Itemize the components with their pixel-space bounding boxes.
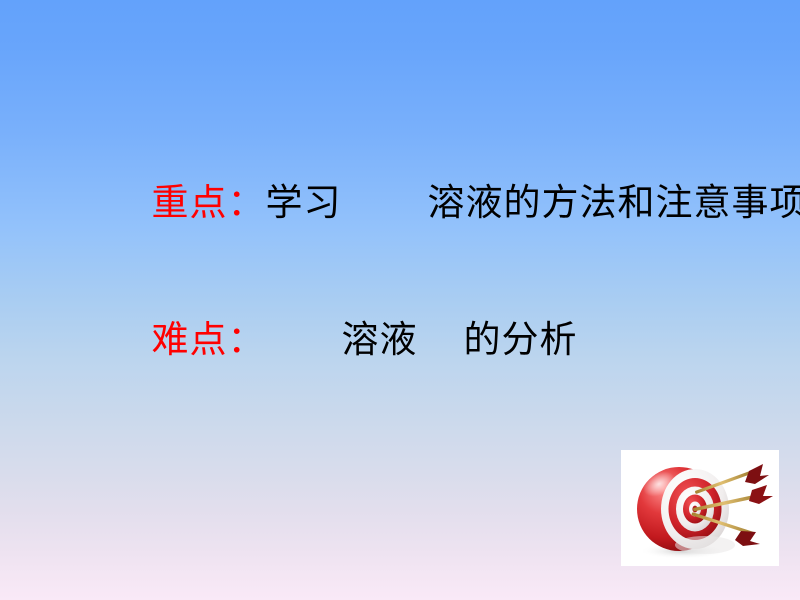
target-with-arrows-image [621,450,779,566]
slide-text-block: 重点：学习溶液的方法和注意事项 难点：溶液的分析 [0,148,800,396]
table-reflection [675,536,735,554]
target-illustration [621,450,779,566]
key-points-label: 重点： [152,183,266,224]
key-points-text-part-2: 溶液的方法和注意事项 [428,183,800,224]
difficult-points-text-part-2: 的分析 [464,320,578,361]
difficult-points-label: 难点： [152,320,266,361]
slide-canvas: 重点：学习溶液的方法和注意事项 难点：溶液的分析 [0,0,800,600]
difficult-points-text-part-1: 溶液 [342,320,418,361]
slide-line-difficult-points: 难点：溶液的分析 [90,285,800,396]
slide-line-key-points: 重点：学习溶液的方法和注意事项 [90,148,800,259]
key-points-text-part-1: 学习 [266,183,342,224]
